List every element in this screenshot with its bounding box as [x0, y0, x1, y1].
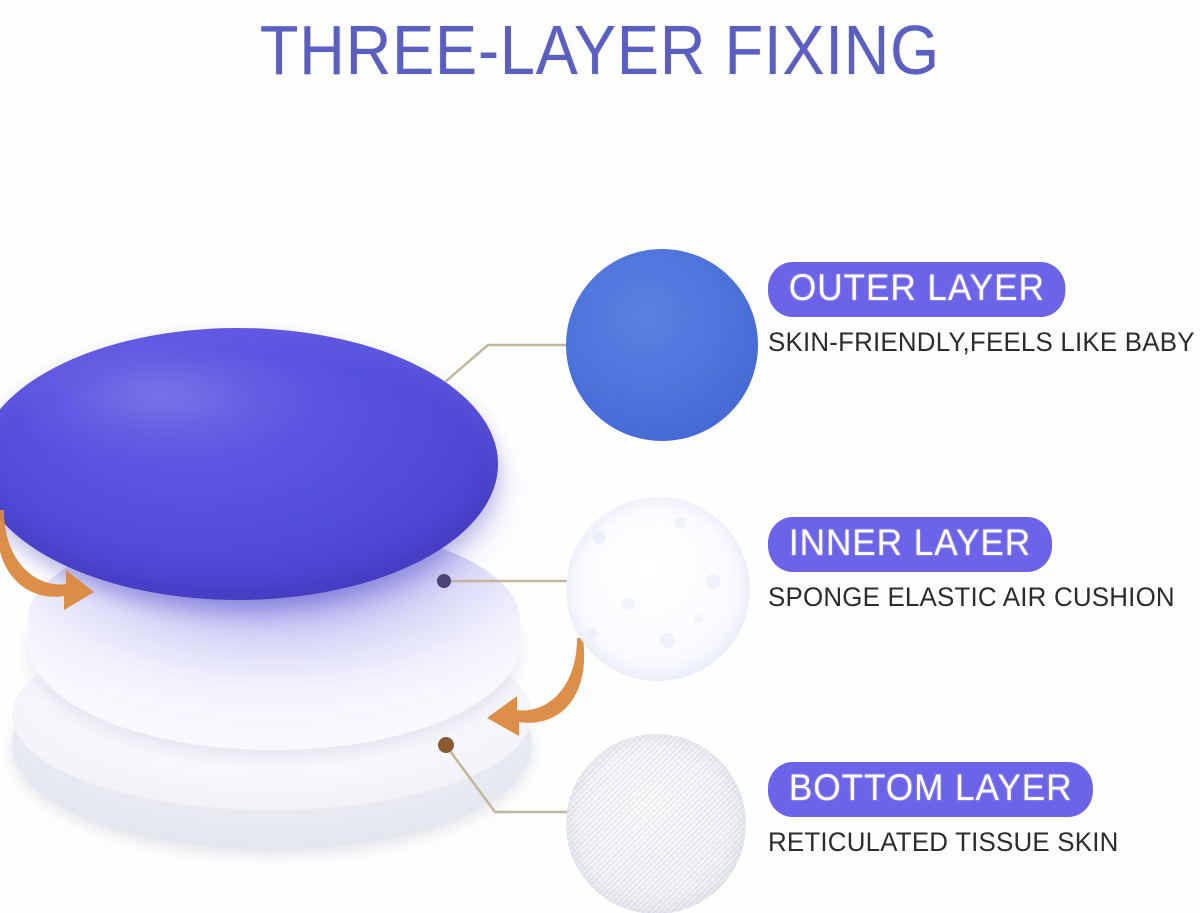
sponge-texture: [566, 497, 750, 681]
bottom-layer-badge: BOTTOM LAYER: [768, 762, 1093, 817]
inner-layer-label-group: INNER LAYER SPONGE ELASTIC AIR CUSHION: [768, 517, 1192, 613]
bottom-layer-swatch: [566, 734, 746, 913]
outer-layer-disc-highlight: [20, 346, 320, 466]
outer-layer-description: SKIN-FRIENDLY,FEELS LIKE BABY SKIN: [768, 326, 1200, 358]
inner-layer-description: SPONGE ELASTIC AIR CUSHION: [768, 581, 1175, 613]
outer-layer-swatch: [566, 249, 758, 441]
outer-layer-badge: OUTER LAYER: [768, 262, 1066, 317]
infographic-canvas: THREE-LAYER FIXING: [0, 0, 1200, 913]
mesh-texture: [566, 734, 746, 913]
inner-layer-badge: INNER LAYER: [768, 517, 1052, 572]
inner-layer-swatch: [566, 497, 750, 681]
arrow-right-icon: [472, 624, 587, 739]
page-title: THREE-LAYER FIXING: [60, 10, 1140, 90]
bottom-layer-description: RETICULATED TISSUE SKIN: [768, 826, 1119, 858]
outer-layer-label-group: OUTER LAYER SKIN-FRIENDLY,FEELS LIKE BAB…: [768, 262, 1200, 358]
bottom-layer-label-group: BOTTOM LAYER RETICULATED TISSUE SKIN: [768, 762, 1133, 858]
arrow-left-icon: [0, 492, 104, 612]
